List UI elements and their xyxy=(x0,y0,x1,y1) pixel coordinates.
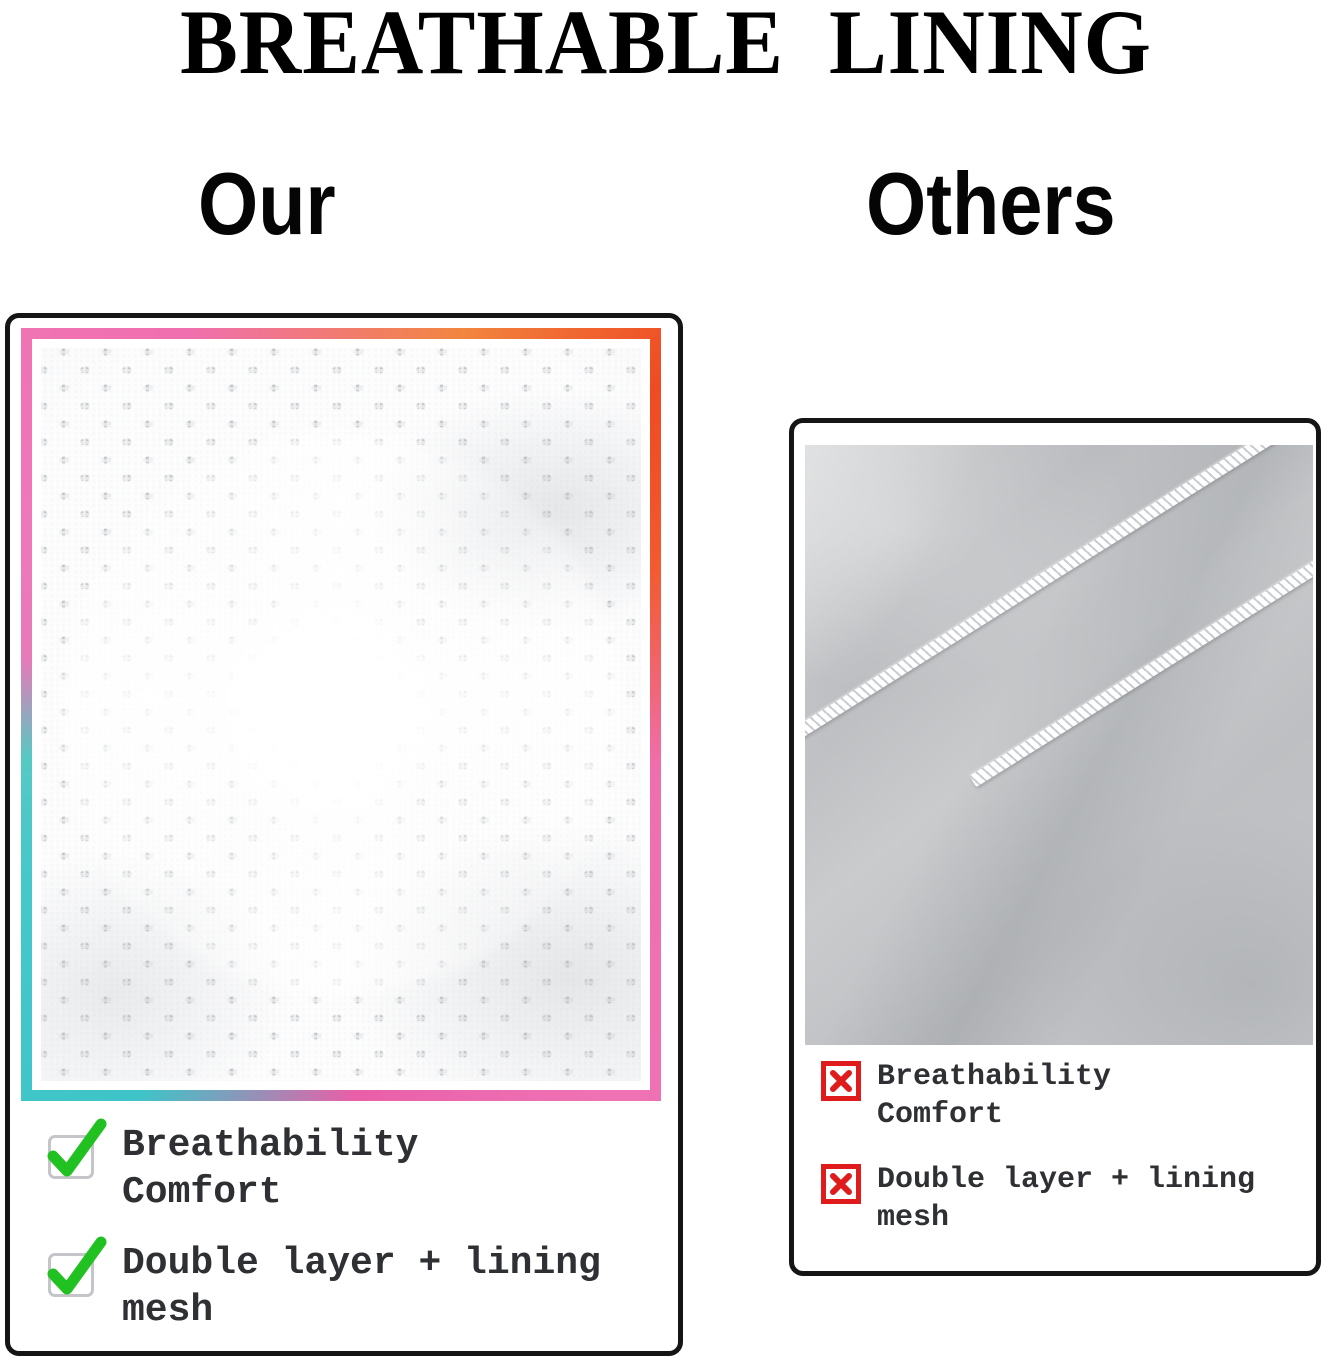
feature-label: Breathability Comfort xyxy=(877,1058,1111,1134)
page-title: BREATHABLE LINING xyxy=(40,0,1292,88)
comparison-card-ours: Breathability Comfort Double layer + lin… xyxy=(5,313,683,1356)
feature-label: Double layer + lining mesh xyxy=(877,1161,1301,1237)
feature-item: Double layer + lining mesh xyxy=(44,1242,644,1334)
photo-plain-lining-fabric xyxy=(805,445,1313,1045)
check-icon xyxy=(44,1128,100,1184)
cross-icon xyxy=(821,1061,861,1101)
photo-white-matte xyxy=(32,339,650,1090)
photo-breathable-mesh-fabric xyxy=(41,348,641,1081)
feature-label: Breathability Comfort xyxy=(122,1122,418,1216)
feature-item: Double layer + lining mesh xyxy=(821,1162,1301,1237)
feature-item: Breathability Comfort xyxy=(44,1124,644,1216)
comparison-card-others: Breathability Comfort Double layer + lin… xyxy=(789,418,1321,1276)
column-heading-ours: Our xyxy=(198,160,336,248)
feature-list-others: Breathability Comfort Double layer + lin… xyxy=(821,1059,1301,1265)
feature-item: Breathability Comfort xyxy=(821,1059,1301,1134)
feature-list-ours: Breathability Comfort Double layer + lin… xyxy=(44,1124,644,1360)
column-heading-others: Others xyxy=(866,160,1116,248)
cross-icon xyxy=(821,1164,861,1204)
cloth-shading xyxy=(805,445,1313,1045)
check-icon xyxy=(44,1246,100,1302)
photo-vignette xyxy=(41,348,641,1081)
rainbow-gradient-frame xyxy=(21,328,661,1101)
feature-label: Double layer + lining mesh xyxy=(122,1240,644,1334)
